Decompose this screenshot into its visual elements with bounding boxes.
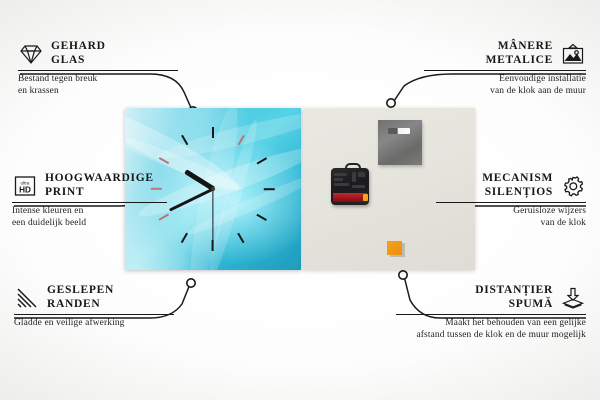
feature-rule (18, 70, 178, 71)
feature-rule (436, 202, 586, 203)
svg-text:HD: HD (19, 185, 31, 194)
feature-rule (14, 314, 174, 315)
connector-dot-manere (387, 99, 395, 107)
feature-title-line1: HOOGWAARDIGE (45, 172, 154, 186)
arrow-down-stack-icon (560, 287, 586, 309)
foam-spacer (387, 241, 402, 255)
clock-center-cap (211, 187, 215, 191)
gear-icon (560, 175, 586, 197)
feature-hoogwaardige-print: ultra HD HOOGWAARDIGE PRINT Intense kleu… (12, 172, 167, 229)
feature-title-line1: GEHARD (51, 40, 106, 54)
feature-gehard-glas: GEHARD GLAS Bestand tegen breuk en krass… (18, 40, 178, 97)
feature-title-line1: DISTANȚIER (475, 284, 553, 298)
hanger-slot (388, 128, 410, 134)
feature-title-line2: GLAS (51, 54, 106, 68)
clock-mechanism-box (331, 168, 369, 205)
battery (333, 193, 367, 202)
feature-title-line2: SILENȚIOS (482, 186, 553, 200)
feature-desc-line1: Gladde en veilige afwerking (14, 318, 174, 329)
infographic-canvas: GEHARD GLAS Bestand tegen breuk en krass… (0, 0, 600, 400)
feature-title-line1: MÂNERE (486, 40, 553, 54)
feature-title-line2: RANDEN (47, 298, 114, 312)
bevel-lines-icon (14, 287, 40, 309)
feature-desc-line1: Eenvoudige installatie (424, 74, 586, 85)
product-image (125, 108, 475, 270)
feature-desc-line2: van de klok (436, 218, 586, 229)
feature-desc-line1: Maakt het behouden van een gelijke (396, 318, 586, 329)
feature-rule (396, 314, 586, 315)
feature-title-line2: PRINT (45, 186, 154, 200)
feature-manere-metalice: MÂNERE METALICE Eenvoudige installatie v… (424, 40, 586, 97)
feature-distantier-spuma: DISTANȚIER SPUMĂ Maakt het behouden van … (396, 284, 586, 341)
feature-desc-line2: van de klok aan de muur (424, 86, 586, 97)
feature-title-line1: GESLEPEN (47, 284, 114, 298)
feature-title-line2: METALICE (486, 54, 553, 68)
diamond-icon (18, 43, 44, 65)
feature-geslepen-randen: GESLEPEN RANDEN Gladde en veilige afwerk… (14, 284, 174, 330)
feature-rule (424, 70, 586, 71)
feature-desc-line1: Intense kleuren en (12, 206, 167, 217)
battery-tip (363, 194, 368, 201)
feature-mecanism-silentios: MECANISM SILENȚIOS Geruisloze wijzers va… (436, 172, 586, 229)
feature-title-line2: SPUMĂ (475, 298, 553, 312)
ultra-hd-icon: ultra HD (12, 175, 38, 197)
picture-frame-icon (560, 43, 586, 65)
feature-desc-line1: Geruisloze wijzers (436, 206, 586, 217)
connector-dot-randen (187, 279, 195, 287)
feature-desc-line2: en krassen (18, 86, 178, 97)
feature-rule (12, 202, 167, 203)
metal-hanger-plate (378, 120, 422, 165)
feature-desc-line1: Bestand tegen breuk (18, 74, 178, 85)
connector-dot-distantier (399, 271, 407, 279)
feature-title-line1: MECANISM (482, 172, 553, 186)
feature-desc-line2: een duidelijk beeld (12, 218, 167, 229)
feature-desc-line2: afstand tussen de klok en de muur mogeli… (396, 330, 586, 341)
